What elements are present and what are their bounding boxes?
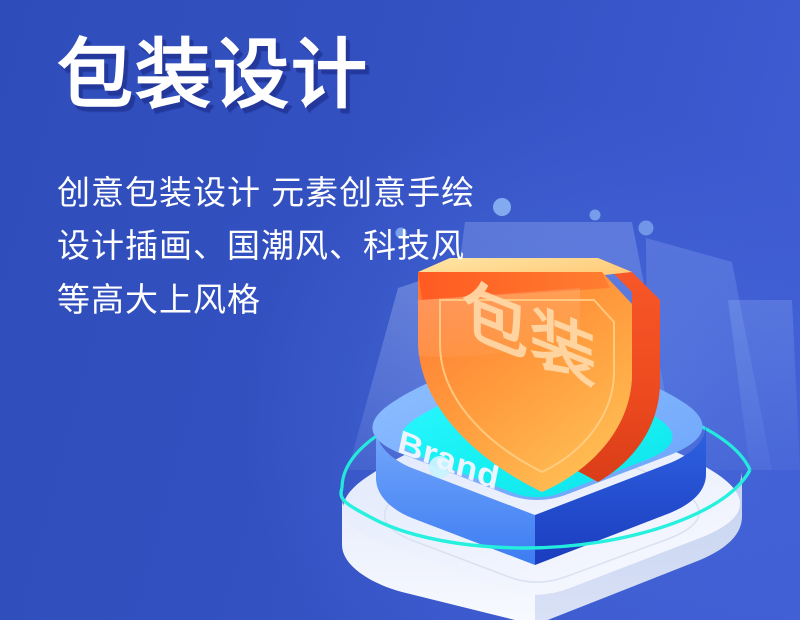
subtitle-line-2: 设计插画、国潮风、科技风: [57, 219, 527, 272]
text-block: 包装设计 创意包装设计 元素创意手绘 设计插画、国潮风、科技风 等高大上风格: [57, 38, 527, 326]
subtitle-line-3: 等高大上风格: [57, 273, 527, 326]
dot: [590, 210, 601, 221]
banner-root: Brand 包装: [0, 0, 800, 620]
subtitle-line-1: 创意包装设计 元素创意手绘: [57, 166, 527, 219]
dot: [639, 221, 654, 236]
page-title: 包装设计: [57, 38, 527, 114]
subtitle: 创意包装设计 元素创意手绘 设计插画、国潮风、科技风 等高大上风格: [57, 166, 527, 326]
